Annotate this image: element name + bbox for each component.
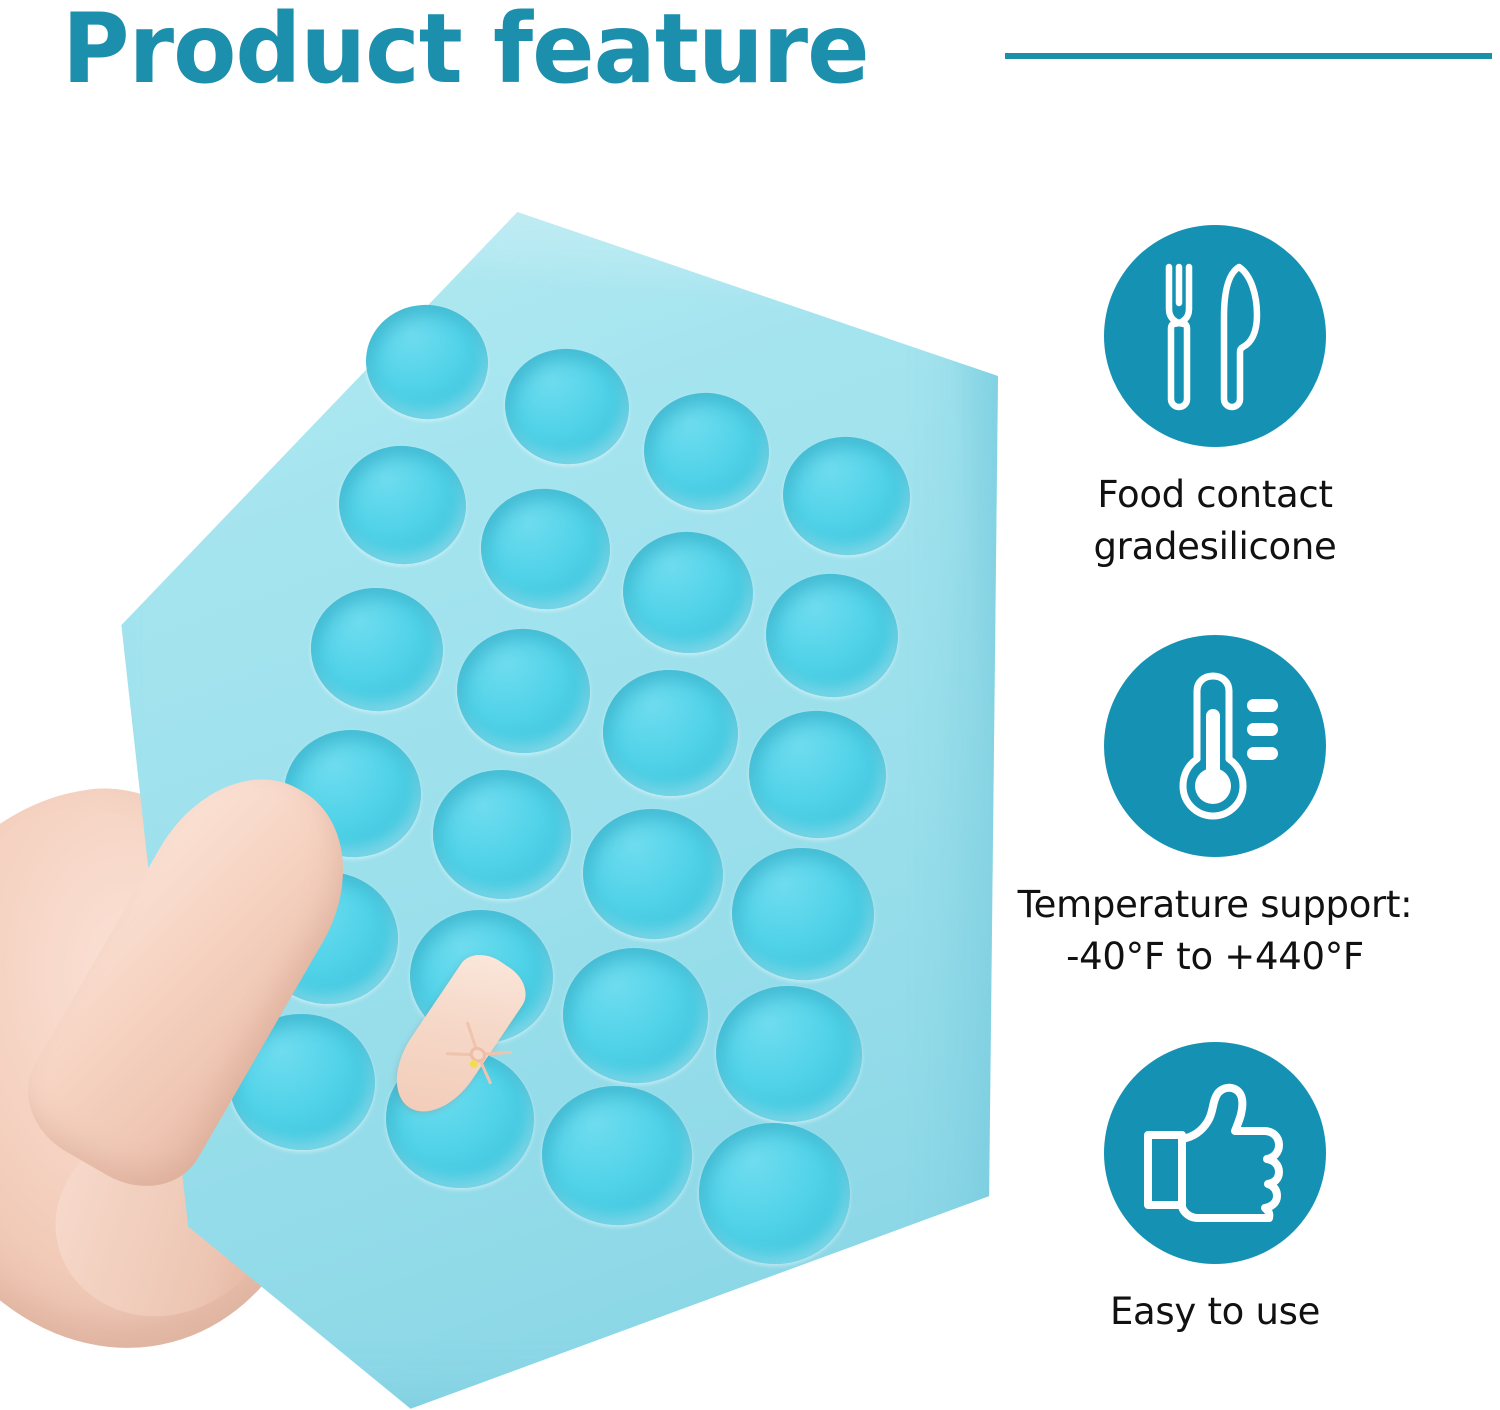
- thumbs-up-icon-badge: [1104, 1042, 1326, 1264]
- product-feature-infographic: Product feature: [0, 0, 1500, 1410]
- header: Product feature: [0, 0, 1500, 115]
- feature-caption-line1: Temperature support:: [1018, 883, 1413, 926]
- feature-item-food-contact: Food contact gradesilicone: [1000, 225, 1430, 573]
- feature-caption: Easy to use: [1000, 1286, 1430, 1338]
- feature-caption-line1: Easy to use: [1110, 1290, 1320, 1333]
- feature-item-temperature: Temperature support: -40°F to +440°F: [1000, 635, 1430, 983]
- feature-list: Food contact gradesilicone: [1000, 225, 1500, 1355]
- title-divider-rule: [1005, 53, 1492, 59]
- feature-caption-line1: Food contact: [1097, 473, 1332, 516]
- feature-item-easy-to-use: Easy to use: [1000, 1042, 1430, 1338]
- cutlery-icon: [1153, 261, 1277, 411]
- page-title: Product feature: [62, 0, 869, 107]
- feature-caption-line2: gradesilicone: [1000, 521, 1430, 573]
- feature-caption-line2: -40°F to +440°F: [1000, 931, 1430, 983]
- cutlery-icon-badge: [1104, 225, 1326, 447]
- thermometer-icon: [1150, 671, 1280, 821]
- feature-caption: Food contact gradesilicone: [1000, 469, 1430, 573]
- thumbs-up-icon: [1140, 1083, 1290, 1223]
- thermometer-icon-badge: [1104, 635, 1326, 857]
- product-photo: [0, 150, 1030, 1410]
- feature-caption: Temperature support: -40°F to +440°F: [1000, 879, 1430, 983]
